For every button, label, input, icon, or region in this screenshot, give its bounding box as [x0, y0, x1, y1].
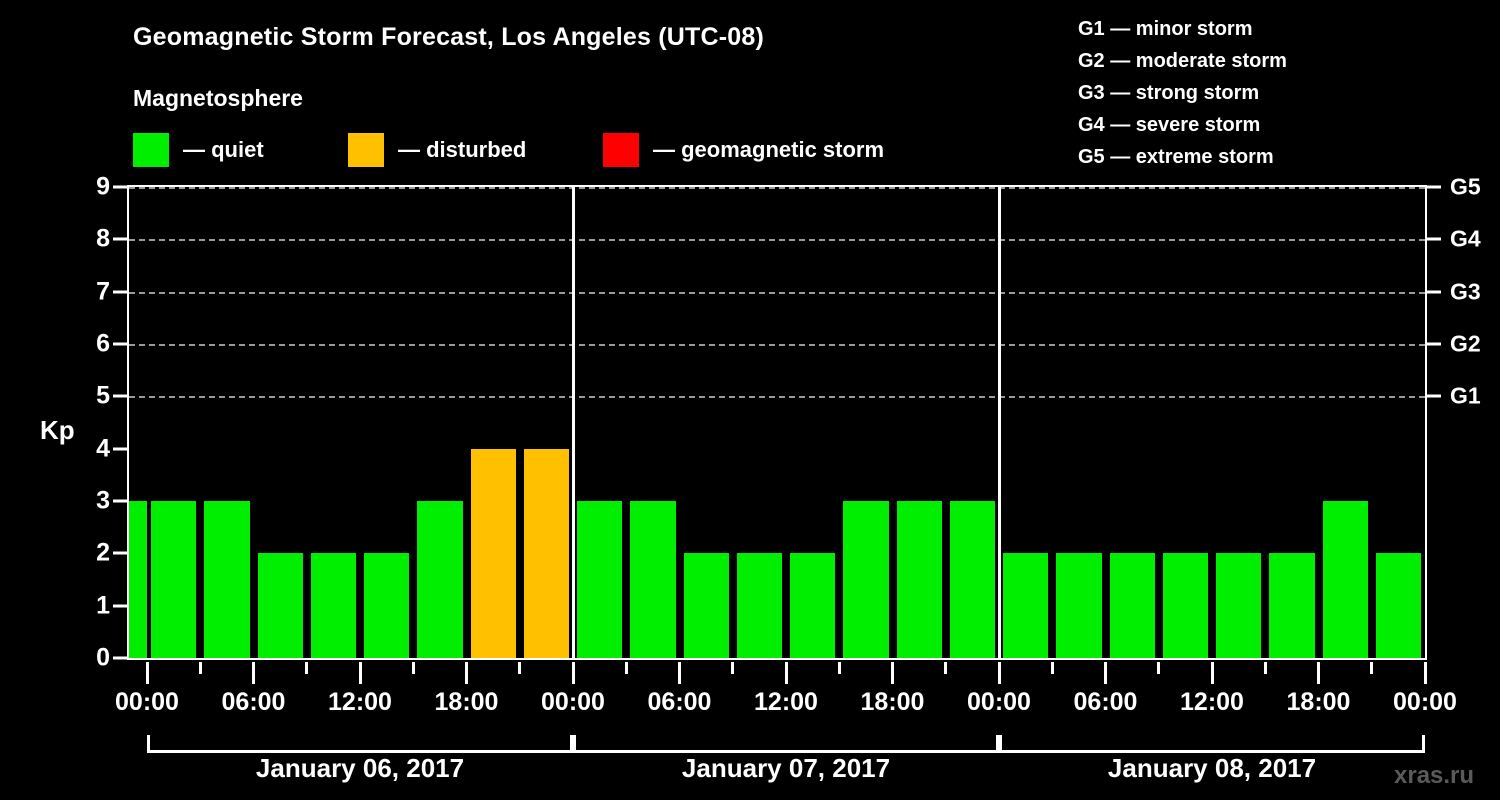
x-tick-6 [465, 662, 468, 684]
g-scale-legend: G1 — minor stormG2 — moderate stormG3 — … [1078, 13, 1287, 173]
bar [630, 501, 675, 658]
x-tick-17 [1051, 662, 1054, 674]
x-tick-2 [252, 662, 255, 684]
x-tick-label-7: 18:00 [861, 688, 925, 717]
date-label-3: January 08, 2017 [999, 753, 1425, 784]
bar [950, 501, 995, 658]
legend-item-label: — disturbed [398, 137, 526, 163]
x-tick-label-5: 06:00 [648, 688, 712, 717]
bar [311, 553, 356, 658]
y-tick-label-1: 1 [70, 591, 110, 620]
y-tick-label-8: 8 [70, 225, 110, 254]
bar [897, 501, 942, 658]
x-tick-20 [1211, 662, 1214, 684]
geomagnetic-storm-swatch-icon [603, 133, 639, 167]
disturbed-swatch-icon [348, 133, 384, 167]
g-tick-G4 [1427, 238, 1441, 241]
x-tick-label-3: 18:00 [435, 688, 499, 717]
x-tick-label-10: 12:00 [1180, 688, 1244, 717]
day-divider-1 [572, 187, 575, 658]
bar [684, 553, 729, 658]
x-tick-24 [1424, 662, 1427, 684]
x-tick-1 [199, 662, 202, 674]
y-tick-label-0: 0 [70, 644, 110, 673]
gridline-kp-8 [129, 239, 1425, 241]
bar [151, 501, 196, 658]
quiet-swatch-icon [133, 133, 169, 167]
g-tick-G2 [1427, 343, 1441, 346]
bar [1376, 553, 1421, 658]
x-tick-3 [305, 662, 308, 674]
x-tick-4 [359, 662, 362, 684]
bar [1269, 553, 1314, 658]
x-tick-label-12: 00:00 [1393, 688, 1457, 717]
gridline-kp-9 [129, 187, 1425, 189]
y-tick-5 [113, 395, 127, 398]
bar [1216, 553, 1261, 658]
g-tick-label-G1: G1 [1450, 383, 1481, 410]
legend-item-label: — geomagnetic storm [653, 137, 884, 163]
bar-partial-leading [129, 501, 147, 658]
y-tick-4 [113, 447, 127, 450]
day-divider-2 [998, 187, 1001, 658]
x-tick-label-1: 06:00 [222, 688, 286, 717]
date-bracket-2 [573, 735, 999, 753]
x-tick-9 [625, 662, 628, 674]
gridline-kp-5 [129, 396, 1425, 398]
x-tick-18 [1104, 662, 1107, 684]
legend-item-label: — quiet [183, 137, 264, 163]
x-tick-label-9: 06:00 [1074, 688, 1138, 717]
g-scale-row-3: G3 — strong storm [1078, 77, 1287, 109]
g-tick-G1 [1427, 395, 1441, 398]
x-tick-22 [1317, 662, 1320, 684]
y-tick-label-7: 7 [70, 277, 110, 306]
y-tick-label-3: 3 [70, 487, 110, 516]
bar [417, 501, 462, 658]
g-scale-row-5: G5 — extreme storm [1078, 141, 1287, 173]
x-tick-12 [785, 662, 788, 684]
plot-inner [129, 187, 1425, 658]
y-tick-8 [113, 238, 127, 241]
x-tick-label-8: 00:00 [967, 688, 1031, 717]
g-tick-G5 [1427, 186, 1441, 189]
x-tick-8 [572, 662, 575, 684]
watermark: xras.ru [1394, 762, 1474, 790]
y-tick-7 [113, 290, 127, 293]
x-tick-label-6: 12:00 [754, 688, 818, 717]
legend-item-geomagnetic-storm: — geomagnetic storm [603, 133, 884, 167]
y-tick-label-6: 6 [70, 330, 110, 359]
g-scale-row-2: G2 — moderate storm [1078, 45, 1287, 77]
bar [1003, 553, 1048, 658]
g-tick-label-G4: G4 [1450, 226, 1481, 253]
legend-item-quiet: — quiet [133, 133, 264, 167]
y-tick-label-4: 4 [70, 434, 110, 463]
date-bracket-3 [999, 735, 1425, 753]
y-tick-9 [113, 186, 127, 189]
g-tick-label-G5: G5 [1450, 174, 1481, 201]
date-bracket-1 [147, 735, 573, 753]
g-tick-label-G2: G2 [1450, 331, 1481, 358]
legend-item-disturbed: — disturbed [348, 133, 526, 167]
g-tick-label-G3: G3 [1450, 278, 1481, 305]
x-tick-14 [891, 662, 894, 684]
x-tick-16 [998, 662, 1001, 684]
y-tick-label-9: 9 [70, 173, 110, 202]
y-tick-label-5: 5 [70, 382, 110, 411]
x-tick-11 [731, 662, 734, 674]
x-tick-23 [1370, 662, 1373, 674]
x-tick-21 [1264, 662, 1267, 674]
y-tick-1 [113, 604, 127, 607]
bar [1110, 553, 1155, 658]
x-tick-label-0: 00:00 [115, 688, 179, 717]
bar [737, 553, 782, 658]
y-tick-label-2: 2 [70, 539, 110, 568]
x-tick-15 [944, 662, 947, 674]
bar [364, 553, 409, 658]
x-tick-7 [518, 662, 521, 674]
bar [843, 501, 888, 658]
page-title: Geomagnetic Storm Forecast, Los Angeles … [133, 23, 764, 52]
bar [790, 553, 835, 658]
y-tick-0 [113, 657, 127, 660]
x-tick-label-2: 12:00 [328, 688, 392, 717]
series-label: Magnetosphere [133, 85, 303, 112]
bar [258, 553, 303, 658]
g-tick-G3 [1427, 290, 1441, 293]
chart-plot-area [127, 185, 1427, 660]
g-scale-row-1: G1 — minor storm [1078, 13, 1287, 45]
bar [204, 501, 249, 658]
bar [471, 449, 516, 658]
bar [524, 449, 569, 658]
x-tick-label-4: 00:00 [541, 688, 605, 717]
x-tick-19 [1157, 662, 1160, 674]
bar [1056, 553, 1101, 658]
x-tick-0 [146, 662, 149, 684]
g-scale-row-4: G4 — severe storm [1078, 109, 1287, 141]
y-tick-2 [113, 552, 127, 555]
y-tick-6 [113, 343, 127, 346]
x-tick-label-11: 18:00 [1287, 688, 1351, 717]
date-label-1: January 06, 2017 [147, 753, 573, 784]
x-tick-5 [412, 662, 415, 674]
bar [577, 501, 622, 658]
x-tick-13 [838, 662, 841, 674]
bar [1163, 553, 1208, 658]
x-tick-10 [678, 662, 681, 684]
bar [1323, 501, 1368, 658]
gridline-kp-6 [129, 344, 1425, 346]
y-tick-3 [113, 500, 127, 503]
gridline-kp-7 [129, 292, 1425, 294]
date-label-2: January 07, 2017 [573, 753, 999, 784]
